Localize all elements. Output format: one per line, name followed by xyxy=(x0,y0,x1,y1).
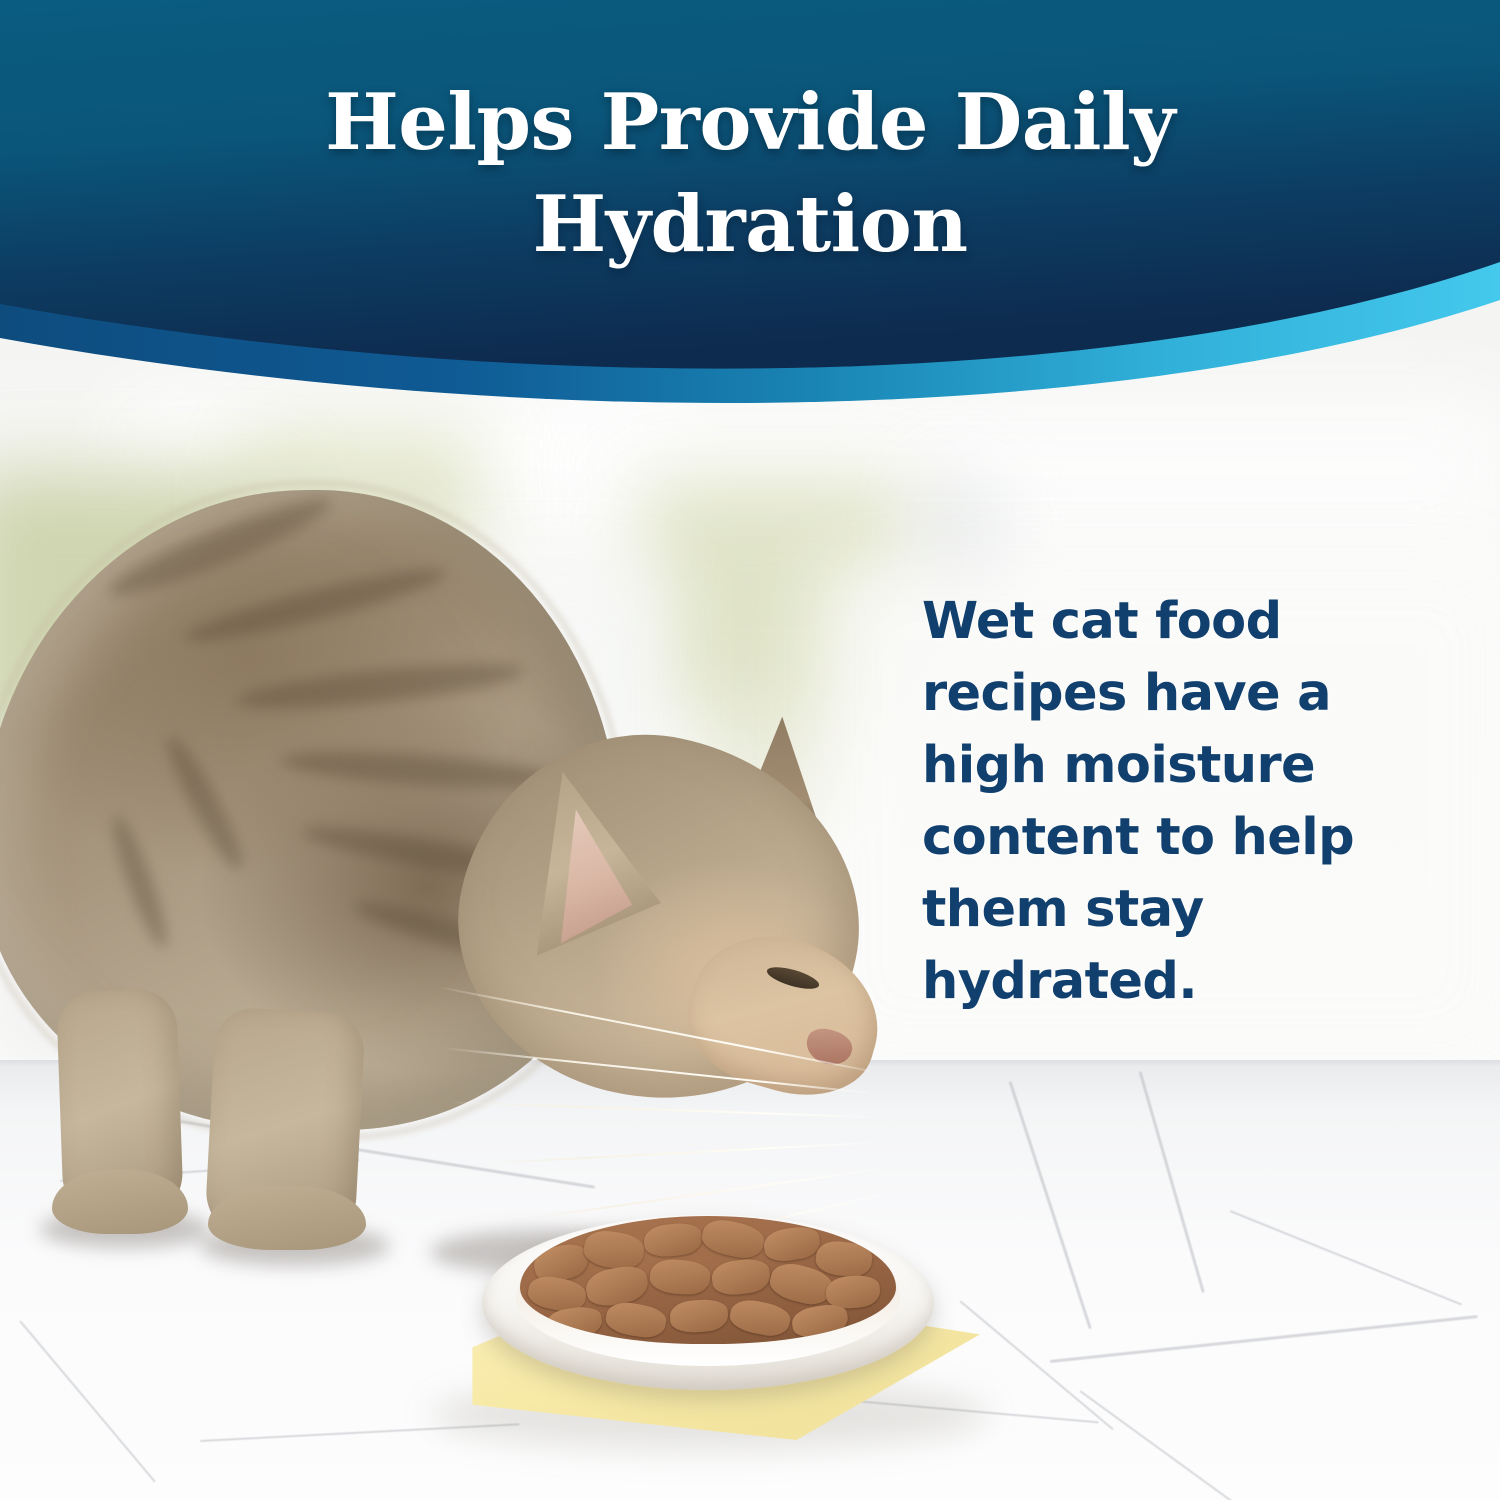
food-chunk xyxy=(669,1298,729,1334)
whisker xyxy=(470,1142,870,1165)
marble-vein xyxy=(1009,1081,1092,1329)
whisker xyxy=(442,1047,870,1094)
marble-vein xyxy=(1139,1071,1205,1293)
cat-paw xyxy=(208,1186,366,1250)
marble-vein xyxy=(1079,1390,1339,1500)
tabby-stripe xyxy=(234,655,526,717)
food-chunk xyxy=(604,1300,668,1341)
food-chunk xyxy=(762,1224,822,1264)
food-chunk xyxy=(642,1221,703,1259)
body-paragraph: Wet cat food recipes have a high moistur… xyxy=(922,586,1422,1018)
tabby-stripe xyxy=(105,812,175,952)
food-chunk xyxy=(710,1257,772,1298)
cat-illustration xyxy=(0,470,900,1300)
food-chunk xyxy=(727,1297,792,1340)
cat-paw xyxy=(52,1170,188,1234)
tabby-stripe xyxy=(158,731,251,876)
tabby-stripe xyxy=(102,486,337,607)
food-chunk xyxy=(699,1216,767,1262)
food-chunk xyxy=(649,1258,711,1296)
whisker xyxy=(450,1101,870,1118)
food-chunk xyxy=(582,1228,646,1272)
marble-vein xyxy=(1230,1210,1463,1306)
marble-vein xyxy=(1050,1315,1478,1363)
promotional-banner-image: Helps Provide Daily Hydration Wet cat fo… xyxy=(0,0,1500,1500)
tabby-stripe xyxy=(180,558,449,652)
marble-vein xyxy=(19,1320,156,1482)
